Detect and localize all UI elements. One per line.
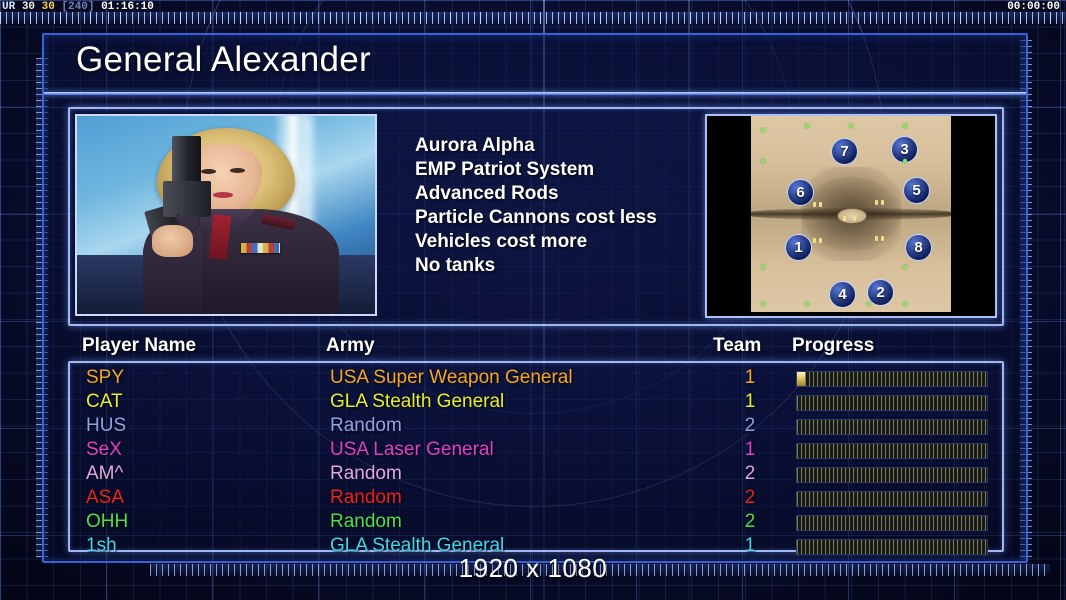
player-name-cell: SPY xyxy=(86,367,124,389)
player-name-cell: CAT xyxy=(86,391,123,413)
player-name-cell: AM^ xyxy=(86,463,123,485)
player-team-cell[interactable]: 1 xyxy=(738,439,762,461)
table-row[interactable]: OHHRandom2 xyxy=(70,511,1002,535)
player-army-cell[interactable]: Random xyxy=(330,487,402,509)
table-row[interactable]: SeXUSA Laser General1 xyxy=(70,439,1002,463)
map-resource-dot xyxy=(761,128,765,132)
title-divider xyxy=(44,92,1026,95)
header-player-name: Player Name xyxy=(82,335,196,357)
map-supply-marker xyxy=(813,202,816,207)
table-row[interactable]: HUSRandom2 xyxy=(70,415,1002,439)
map-resource-dot xyxy=(805,302,809,306)
player-table-header: Player Name Army Team Progress xyxy=(68,335,1000,361)
ability-line: Particle Cannons cost less xyxy=(415,206,657,230)
map-supply-marker xyxy=(875,236,878,241)
player-team-cell[interactable]: 1 xyxy=(738,391,762,413)
ability-line: EMP Patriot System xyxy=(415,158,657,182)
player-team-cell[interactable]: 2 xyxy=(738,463,762,485)
player-army-cell[interactable]: USA Super Weapon General xyxy=(330,367,573,389)
player-team-cell[interactable]: 2 xyxy=(738,487,762,509)
progress-track xyxy=(797,468,987,482)
player-progress-bar xyxy=(796,419,988,435)
player-name-cell: HUS xyxy=(86,415,126,437)
general-portrait xyxy=(75,114,377,316)
table-row[interactable]: AM^Random2 xyxy=(70,463,1002,487)
map-start-position[interactable]: 1 xyxy=(785,234,812,261)
progress-track xyxy=(797,420,987,434)
player-army-cell[interactable]: Random xyxy=(330,415,402,437)
general-info-panel: Aurora AlphaEMP Patriot SystemAdvanced R… xyxy=(68,107,1004,326)
map-preview[interactable]: 73651842 xyxy=(705,114,997,318)
hud-fps-label: UR xyxy=(2,1,15,13)
portrait-medal-ribbons xyxy=(241,243,280,253)
player-army-cell[interactable]: Random xyxy=(330,463,402,485)
map-resource-dot xyxy=(805,124,809,128)
hud-value-2: 30 xyxy=(42,1,55,13)
player-name-cell: SeX xyxy=(86,439,122,461)
map-terrain: 73651842 xyxy=(751,116,951,312)
table-row[interactable]: ASARandom2 xyxy=(70,487,1002,511)
hud-session-timer: 00:00:00 xyxy=(1007,1,1060,13)
header-team: Team xyxy=(713,335,761,357)
map-supply-marker xyxy=(881,200,884,205)
map-supply-marker xyxy=(843,216,846,221)
hud-clock: 01:16:10 xyxy=(101,1,154,13)
map-resource-dot xyxy=(761,302,765,306)
ability-line: No tanks xyxy=(415,254,657,278)
header-progress: Progress xyxy=(792,335,874,357)
player-progress-bar xyxy=(796,395,988,411)
ruler-top xyxy=(0,12,1066,24)
progress-track xyxy=(797,492,987,506)
player-progress-bar xyxy=(796,443,988,459)
map-start-position[interactable]: 8 xyxy=(905,234,932,261)
table-row[interactable]: CATGLA Stealth General1 xyxy=(70,391,1002,415)
title-bar: General Alexander xyxy=(44,35,1026,93)
ability-line: Aurora Alpha xyxy=(415,134,657,158)
player-list-panel: SPYUSA Super Weapon General1CATGLA Steal… xyxy=(68,361,1004,552)
map-start-position[interactable]: 5 xyxy=(903,177,930,204)
map-supply-marker xyxy=(813,238,816,243)
map-resource-dot xyxy=(761,265,765,269)
page-title: General Alexander xyxy=(76,40,371,80)
map-start-position[interactable]: 4 xyxy=(829,281,856,308)
progress-track xyxy=(797,396,987,410)
map-start-position[interactable]: 6 xyxy=(787,179,814,206)
player-name-cell: ASA xyxy=(86,487,124,509)
player-team-cell[interactable]: 1 xyxy=(738,367,762,389)
progress-track xyxy=(797,540,987,554)
player-army-cell[interactable]: Random xyxy=(330,511,402,533)
player-team-cell[interactable]: 2 xyxy=(738,511,762,533)
player-army-cell[interactable]: GLA Stealth General xyxy=(330,391,504,413)
player-name-cell: OHH xyxy=(86,511,128,533)
player-progress-bar xyxy=(796,371,988,387)
lobby-frame: General Alexander xyxy=(42,33,1028,563)
player-team-cell[interactable]: 2 xyxy=(738,415,762,437)
map-start-position[interactable]: 7 xyxy=(831,138,858,165)
map-supply-marker xyxy=(853,216,856,221)
general-abilities-list: Aurora AlphaEMP Patriot SystemAdvanced R… xyxy=(415,134,657,278)
map-resource-dot xyxy=(903,302,907,306)
hud-value-3: [240] xyxy=(61,1,94,13)
map-supply-marker xyxy=(819,202,822,207)
progress-fill xyxy=(797,372,805,386)
table-row[interactable]: SPYUSA Super Weapon General1 xyxy=(70,367,1002,391)
player-progress-bar xyxy=(796,491,988,507)
map-supply-marker xyxy=(819,238,822,243)
resolution-overlay: 1920 x 1080 xyxy=(0,553,1066,584)
player-army-cell[interactable]: USA Laser General xyxy=(330,439,494,461)
hud-performance-readout: UR 30 30 [240] 01:16:10 xyxy=(2,1,154,13)
player-progress-bar xyxy=(796,467,988,483)
player-progress-bar xyxy=(796,515,988,531)
map-center-island xyxy=(837,208,867,224)
header-army: Army xyxy=(326,335,375,357)
game-screen: UR 30 30 [240] 01:16:10 00:00:00 General… xyxy=(0,0,1066,600)
ability-line: Vehicles cost more xyxy=(415,230,657,254)
hud-value-1: 30 xyxy=(22,1,35,13)
ability-line: Advanced Rods xyxy=(415,182,657,206)
progress-track xyxy=(797,444,987,458)
progress-track xyxy=(797,372,987,386)
map-resource-dot xyxy=(849,124,853,128)
map-resource-dot xyxy=(761,159,765,163)
map-supply-marker xyxy=(875,200,878,205)
map-start-position[interactable]: 2 xyxy=(867,279,894,306)
map-supply-marker xyxy=(881,236,884,241)
progress-track xyxy=(797,516,987,530)
map-resource-dot xyxy=(903,265,907,269)
map-resource-dot xyxy=(903,124,907,128)
portrait-hand xyxy=(152,225,194,257)
map-resource-dot xyxy=(867,302,871,306)
